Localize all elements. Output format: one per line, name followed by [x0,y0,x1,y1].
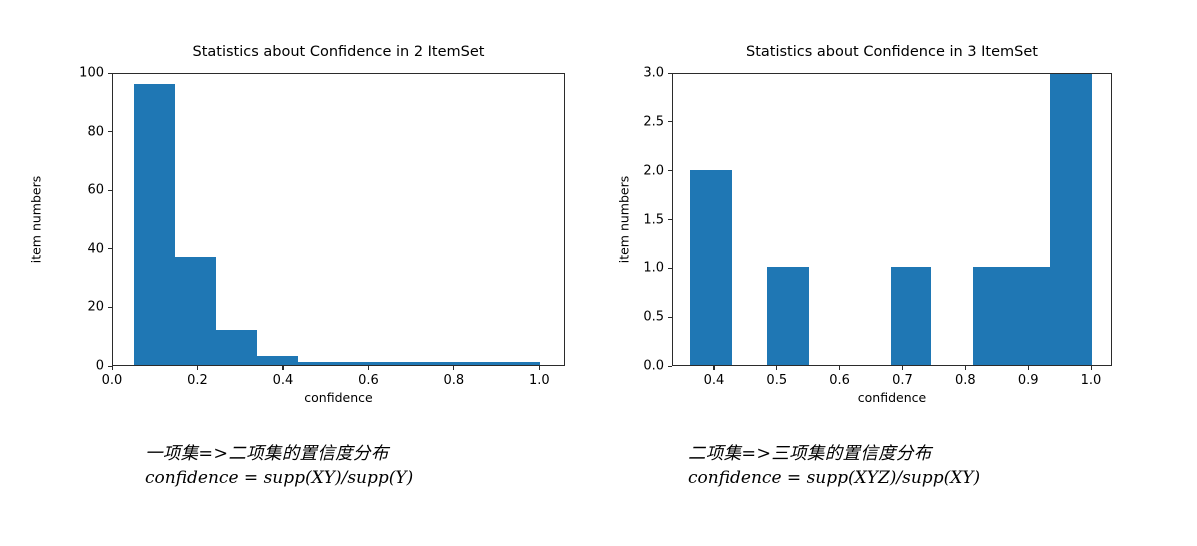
x-tick-label: 0.2 [187,373,208,388]
chart-title: Statistics about Confidence in 3 ItemSet [672,44,1112,60]
histogram-bar [257,356,298,365]
y-tick-label: 60 [42,183,104,198]
caption-formula: confidence = supp(XYZ)/supp(XY) [688,468,980,488]
plot-area [672,73,1112,366]
x-axis-label: confidence [112,390,565,405]
x-tick-label: 0.8 [444,373,465,388]
y-tick-mark [108,73,112,74]
x-tick-mark [368,366,369,370]
y-tick-label: 3.0 [602,66,664,81]
x-tick-mark [965,366,966,370]
y-tick-label: 20 [42,300,104,315]
x-tick-mark [839,366,840,370]
x-tick-label: 0.8 [955,373,976,388]
x-tick-mark [713,366,714,370]
y-tick-mark [668,219,672,220]
x-tick-mark [539,366,540,370]
histogram-bar [175,257,216,365]
histogram-bar [216,330,257,365]
y-tick-label: 1.0 [602,261,664,276]
x-tick-mark [197,366,198,370]
y-tick-mark [108,190,112,191]
y-tick-label: 80 [42,124,104,139]
x-tick-label: 0.6 [829,373,850,388]
x-tick-mark [1091,366,1092,370]
y-tick-mark [668,317,672,318]
y-tick-mark [108,307,112,308]
y-tick-mark [668,366,672,367]
y-tick-mark [668,170,672,171]
x-tick-label: 1.0 [529,373,550,388]
histogram-bar [134,84,175,365]
histogram-bar [891,267,931,365]
caption-chinese: 二项集=>三项集的置信度分布 [688,440,932,465]
x-tick-mark [453,366,454,370]
x-tick-label: 0.6 [358,373,379,388]
x-tick-label: 0.5 [766,373,787,388]
panel-right: Statistics about Confidence in 3 ItemSet… [598,0,1196,546]
x-tick-mark [112,366,113,370]
chart-title: Statistics about Confidence in 2 ItemSet [112,44,565,60]
y-tick-label: 1.5 [602,212,664,227]
y-tick-mark [668,121,672,122]
x-tick-mark [902,366,903,370]
y-tick-label: 2.0 [602,163,664,178]
histogram-bar [767,267,809,365]
y-tick-label: 0.5 [602,310,664,325]
y-tick-label: 0 [42,359,104,374]
x-tick-mark [1028,366,1029,370]
y-tick-mark [668,268,672,269]
x-tick-label: 0.9 [1018,373,1039,388]
y-tick-label: 0.0 [602,359,664,374]
plot-area [112,73,565,366]
histogram-bar [973,267,1050,365]
x-tick-mark [282,366,283,370]
figure-row: Statistics about Confidence in 2 ItemSet… [0,0,1197,546]
histogram-bar [1050,73,1092,365]
y-tick-mark [668,73,672,74]
chart-right: Statistics about Confidence in 3 ItemSet… [598,0,1196,420]
caption-chinese: 一项集=>二项集的置信度分布 [145,440,389,465]
histogram-bar [690,170,732,365]
chart-left: Statistics about Confidence in 2 ItemSet… [0,0,598,420]
x-tick-label: 0.7 [892,373,913,388]
y-tick-label: 100 [42,66,104,81]
panel-left: Statistics about Confidence in 2 ItemSet… [0,0,598,546]
x-tick-label: 0.4 [273,373,294,388]
x-tick-mark [776,366,777,370]
caption-formula: confidence = supp(XY)/supp(Y) [145,468,413,488]
x-axis-label: confidence [672,390,1112,405]
y-tick-label: 2.5 [602,114,664,129]
histogram-bar [298,362,541,365]
x-tick-label: 0.0 [102,373,123,388]
y-tick-mark [108,131,112,132]
x-tick-label: 1.0 [1081,373,1102,388]
x-tick-label: 0.4 [704,373,725,388]
y-tick-mark [108,248,112,249]
y-tick-label: 40 [42,241,104,256]
